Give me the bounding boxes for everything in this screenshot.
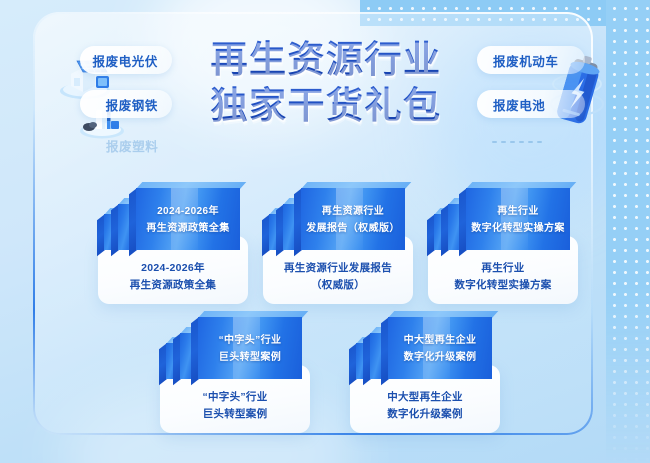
card-box-art: 再生资源行业 发展报告（权威版） — [263, 174, 413, 250]
resource-card[interactable]: 再生行业 数字化转型实操方案 再生行业 数字化转型实操方案 — [428, 174, 578, 250]
card-caption-line-1: 再生资源行业发展报告 — [284, 260, 392, 276]
box-stack-main: 中大型再生企业 数字化升级案例 — [388, 311, 492, 379]
card-caption-line-1: 2024-2026年 — [141, 260, 205, 276]
box-label-line-1: 中大型再生企业 — [404, 335, 477, 346]
card-caption-line-1: 再生行业 — [481, 260, 524, 276]
box-stack-main: 2024-2026年 再生资源政策全集 — [136, 182, 240, 250]
card-caption-line-2: （权威版） — [311, 277, 365, 293]
card-caption-line-1: 中大型再生企业 — [387, 389, 463, 405]
card-box-art: 中大型再生企业 数字化升级案例 — [350, 303, 500, 379]
poster-header: 报废电光伏 报废钢铁 报废塑料 报废机动车 报废电池 再生资源行业 独家干货礼包 — [0, 14, 650, 146]
page-title-line-2: 独家干货礼包 — [190, 86, 462, 126]
resource-card[interactable]: 中大型再生企业 数字化升级案例 中大型再生企业 数字化升级案例 — [350, 303, 500, 379]
box-label-line-1: “中字头”行业 — [219, 335, 282, 346]
box-label-line-2: 巨头转型案例 — [219, 352, 281, 363]
box-stack-main: 再生资源行业 发展报告（权威版） — [301, 182, 405, 250]
card-box-art: 2024-2026年 再生资源政策全集 — [98, 174, 248, 250]
box-label: 2024-2026年 再生资源政策全集 — [136, 204, 240, 237]
page-title: 再生资源行业 独家干货礼包 — [190, 40, 462, 126]
page-title-line-1: 再生资源行业 — [190, 40, 462, 80]
box-stack-main: 再生行业 数字化转型实操方案 — [466, 182, 570, 250]
card-box-art: “中字头”行业 巨头转型案例 — [160, 303, 310, 379]
category-pill-steel-label: 报废钢铁 — [106, 95, 158, 114]
box-label: 再生资源行业 发展报告（权威版） — [301, 204, 405, 237]
box-label-line-1: 2024-2026年 — [157, 206, 219, 217]
category-pill-solar-label: 报废电光伏 — [92, 51, 158, 70]
card-caption-line-2: 数字化转型实操方案 — [454, 277, 551, 293]
category-pill-steel[interactable]: 报废钢铁 — [80, 90, 172, 118]
category-ghost-plastic: 报废塑料 — [106, 136, 158, 155]
card-box-art: 再生行业 数字化转型实操方案 — [428, 174, 578, 250]
resource-card[interactable]: 再生资源行业发展报告 （权威版） 再生资源行业 发展报告（权威版） — [263, 174, 413, 250]
category-pill-battery-label: 报废电池 — [493, 95, 545, 114]
category-pill-vehicle[interactable]: 报废机动车 — [477, 46, 585, 74]
resource-card[interactable]: “中字头”行业 巨头转型案例 “中字头”行业 巨头转型案例 — [160, 303, 310, 379]
box-label-line-2: 数字化转型实操方案 — [471, 223, 565, 234]
card-caption-line-1: “中字头”行业 — [202, 389, 267, 405]
card-caption-line-2: 巨头转型案例 — [203, 406, 268, 422]
box-label: 中大型再生企业 数字化升级案例 — [388, 333, 492, 366]
box-label-line-1: 再生资源行业 — [322, 206, 384, 217]
box-label-line-1: 再生行业 — [497, 206, 539, 217]
category-dash-decor — [492, 141, 542, 143]
category-pill-battery[interactable]: 报废电池 — [477, 90, 585, 118]
category-pill-vehicle-label: 报废机动车 — [493, 51, 559, 70]
box-label: “中字头”行业 巨头转型案例 — [198, 333, 302, 366]
box-label-line-2: 再生资源政策全集 — [146, 223, 229, 234]
card-caption-line-2: 再生资源政策全集 — [130, 277, 216, 293]
box-label-line-2: 数字化升级案例 — [404, 352, 477, 363]
category-pill-solar[interactable]: 报废电光伏 — [80, 46, 172, 74]
poster-canvas: 报废电光伏 报废钢铁 报废塑料 报废机动车 报废电池 再生资源行业 独家干货礼包… — [0, 0, 650, 463]
box-label-line-2: 发展报告（权威版） — [306, 223, 400, 234]
box-label: 再生行业 数字化转型实操方案 — [466, 204, 570, 237]
card-caption-line-2: 数字化升级案例 — [387, 406, 463, 422]
resource-card[interactable]: 2024-2026年 再生资源政策全集 2024-2026年 再生资源政策全集 — [98, 174, 248, 250]
box-stack-main: “中字头”行业 巨头转型案例 — [198, 311, 302, 379]
